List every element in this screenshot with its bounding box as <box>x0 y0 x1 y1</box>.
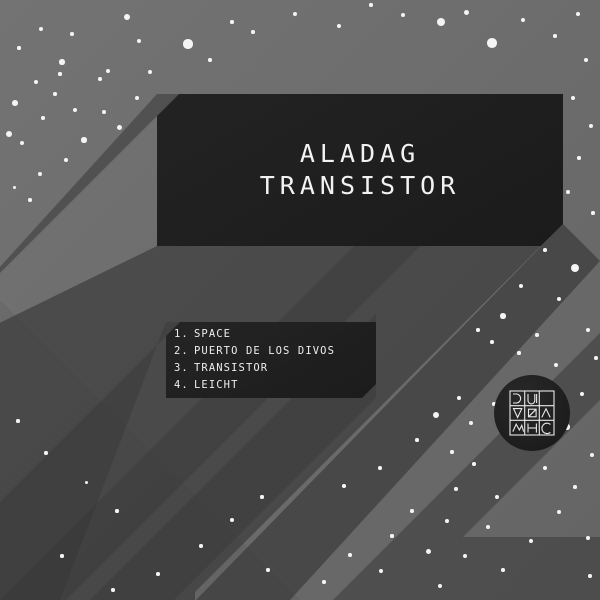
title-panel: ALADAG TRANSISTOR <box>157 94 563 246</box>
label-glyph-grid-logo <box>506 387 558 439</box>
album-cover: ALADAG TRANSISTOR 1.SPACE2.PUERTO DE LOS… <box>0 0 600 600</box>
track-title: TRANSISTOR <box>194 360 268 377</box>
track-number: 4. <box>174 377 194 394</box>
track-number: 3. <box>174 360 194 377</box>
track-title: SPACE <box>194 326 231 343</box>
tracklist-panel: 1.SPACE2.PUERTO DE LOS DIVOS3.TRANSISTOR… <box>166 322 376 398</box>
label-badge <box>494 375 570 451</box>
track-title: PUERTO DE LOS DIVOS <box>194 343 335 360</box>
background-gradient <box>0 0 600 600</box>
track-row: 1.SPACE <box>174 326 376 343</box>
tracklist: 1.SPACE2.PUERTO DE LOS DIVOS3.TRANSISTOR… <box>174 326 376 394</box>
track-title: LEICHT <box>194 377 239 394</box>
artist-name: ALADAG <box>300 138 420 170</box>
release-title: TRANSISTOR <box>260 170 461 202</box>
track-number: 2. <box>174 343 194 360</box>
track-number: 1. <box>174 326 194 343</box>
track-row: 3.TRANSISTOR <box>174 360 376 377</box>
track-row: 4.LEICHT <box>174 377 376 394</box>
track-row: 2.PUERTO DE LOS DIVOS <box>174 343 376 360</box>
